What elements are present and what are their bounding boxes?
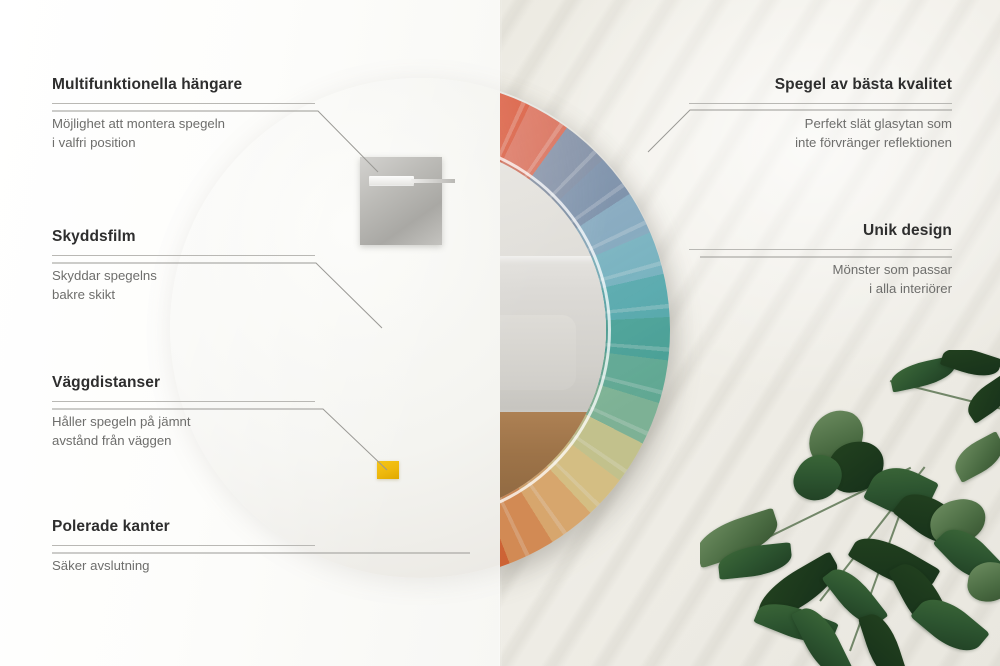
feature-rule xyxy=(689,249,952,250)
feature-block-quality-mirror: Spegel av bästa kvalitet Perfekt slät gl… xyxy=(689,76,952,152)
hanger-slot-icon xyxy=(369,176,414,185)
feature-block-hangers: Multifunktionella hängare Möjlighet att … xyxy=(52,76,315,152)
feature-title-protective-film: Skyddsfilm xyxy=(52,228,315,246)
feature-rule xyxy=(52,103,315,104)
feature-block-unique-design: Unik design Mönster som passar i alla in… xyxy=(689,222,952,298)
feature-title-wall-spacers: Väggdistanser xyxy=(52,374,315,392)
wall-spacer-icon xyxy=(377,461,399,479)
feature-description-polished-edges: Säker avslutning xyxy=(52,556,315,575)
feature-rule xyxy=(52,545,315,546)
feature-title-polished-edges: Polerade kanter xyxy=(52,518,315,536)
foliage-decoration xyxy=(700,350,1000,666)
feature-title-hangers: Multifunktionella hängare xyxy=(52,76,315,94)
feature-description-quality-mirror: Perfekt slät glasytan som inte förvränge… xyxy=(689,114,952,152)
plant-leaf xyxy=(940,350,1000,382)
feature-description-protective-film: Skyddar spegelns bakre skikt xyxy=(52,266,315,304)
feature-title-unique-design: Unik design xyxy=(689,222,952,240)
hanger-plate-icon xyxy=(360,157,442,245)
infographic-canvas: Multifunktionella hängare Möjlighet att … xyxy=(0,0,1000,666)
feature-title-quality-mirror: Spegel av bästa kvalitet xyxy=(689,76,952,94)
feature-rule xyxy=(689,103,952,104)
mirror-glass-reflection xyxy=(500,144,606,516)
feature-rule xyxy=(52,401,315,402)
feature-description-unique-design: Mönster som passar i alla interiörer xyxy=(689,260,952,298)
feature-rule xyxy=(52,255,315,256)
glass-sheen-overlay xyxy=(500,144,606,516)
plant-leaf xyxy=(948,431,1000,483)
plant-leaf xyxy=(791,601,853,666)
feature-description-wall-spacers: Håller spegeln på jämnt avstånd från väg… xyxy=(52,412,315,450)
feature-block-polished-edges: Polerade kanter Säker avslutning xyxy=(52,518,315,575)
feature-block-wall-spacers: Väggdistanser Håller spegeln på jämnt av… xyxy=(52,374,315,450)
feature-description-hangers: Möjlighet att montera spegeln i valfri p… xyxy=(52,114,315,152)
mirror-product xyxy=(500,80,670,580)
feature-block-protective-film: Skyddsfilm Skyddar spegelns bakre skikt xyxy=(52,228,315,304)
